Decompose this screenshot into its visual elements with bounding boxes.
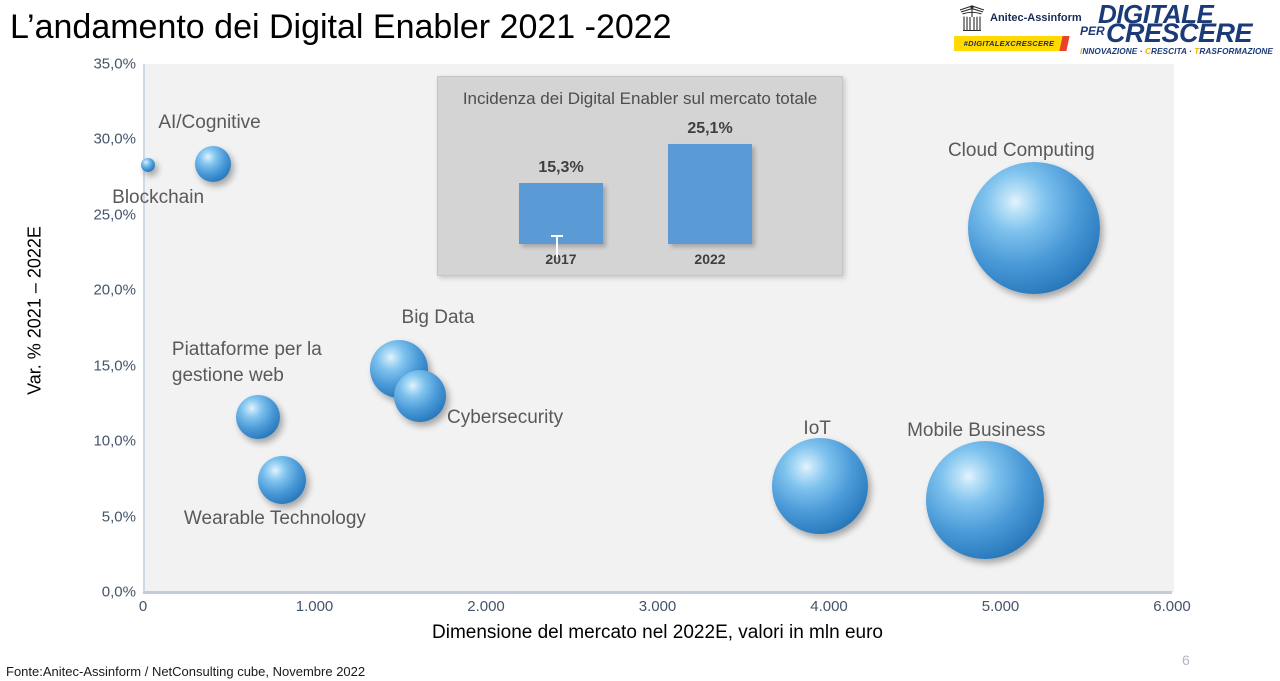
bubble-label: Cybersecurity (447, 407, 563, 429)
x-axis-title: Dimensione del mercato nel 2022E, valori… (143, 622, 1172, 644)
bubble-label: Big Data (402, 307, 475, 329)
bubble-piattaforme-per-la-gestione-web[interactable] (236, 395, 280, 439)
inset-bar-category: 2022 (694, 251, 725, 267)
x-tick-label: 3.000 (639, 598, 677, 615)
bubble-label: Piattaforme per lagestione web (172, 337, 372, 389)
inset-bar-value: 25,1% (687, 120, 732, 138)
inset-chart-title: Incidenza dei Digital Enabler sul mercat… (448, 86, 832, 112)
bubble-cybersecurity[interactable] (394, 370, 446, 422)
x-tick-label: 2.000 (467, 598, 505, 615)
y-tick-label: 35,0% (68, 56, 136, 73)
bubble-mobile-business[interactable] (926, 441, 1044, 559)
inset-bar-value: 15,3% (538, 159, 583, 177)
inset-error-marker (556, 235, 558, 257)
x-tick-label: 1.000 (296, 598, 334, 615)
x-tick-label: 4.000 (810, 598, 848, 615)
bubble-wearable-technology[interactable] (258, 456, 306, 504)
x-tick-label: 0 (139, 598, 147, 615)
x-axis-line (143, 591, 1172, 594)
y-axis-ticks: 0,0%5,0%10,0%15,0%20,0%25,0%30,0%35,0% (60, 0, 136, 681)
y-tick-label: 5,0% (68, 508, 136, 525)
inset-bar-chart: Incidenza dei Digital Enabler sul mercat… (437, 76, 843, 276)
bubble-label: Blockchain (112, 187, 204, 209)
y-tick-label: 30,0% (68, 131, 136, 148)
bubble-label: Cloud Computing (948, 140, 1095, 162)
bubble-chart: 0,0%5,0%10,0%15,0%20,0%25,0%30,0%35,0% 0… (0, 0, 1280, 681)
page-number: 6 (1182, 652, 1190, 668)
source-note: Fonte:Anitec-Assinform / NetConsulting c… (6, 664, 365, 679)
y-tick-label: 0,0% (68, 584, 136, 601)
bubble-label: AI/Cognitive (158, 112, 260, 134)
bubble-ai-cognitive[interactable] (195, 146, 231, 182)
x-tick-label: 5.000 (982, 598, 1020, 615)
bubble-label: Wearable Technology (184, 508, 366, 530)
bubble-cloud-computing[interactable] (968, 162, 1100, 294)
bubble-label: IoT (803, 418, 830, 440)
x-tick-label: 6.000 (1153, 598, 1191, 615)
bubble-label: Mobile Business (907, 420, 1045, 442)
y-tick-label: 20,0% (68, 282, 136, 299)
inset-bar-category: 2017 (545, 251, 576, 267)
y-axis-title: Var. % 2021 – 2022E (25, 181, 46, 441)
y-tick-label: 10,0% (68, 433, 136, 450)
inset-bar-2022[interactable] (668, 144, 752, 244)
y-tick-label: 15,0% (68, 357, 136, 374)
